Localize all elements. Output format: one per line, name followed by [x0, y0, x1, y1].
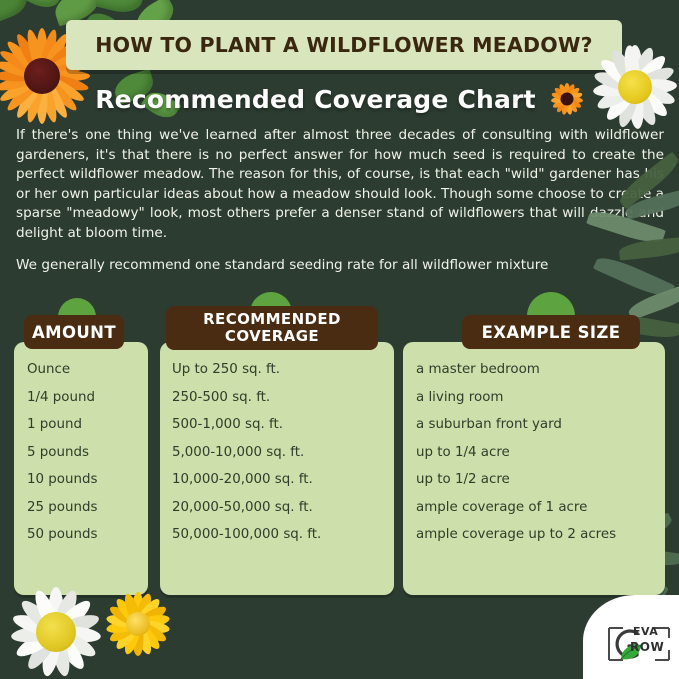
table-row: up to 1/2 acre	[403, 466, 665, 494]
flower-center	[126, 612, 150, 636]
table-row: 10,000-20,000 sq. ft.	[160, 466, 394, 494]
flower-center	[36, 612, 76, 652]
table-row: 5,000-10,000 sq. ft.	[160, 439, 394, 467]
flower-bottom-left-yellow	[100, 586, 176, 662]
table-row: Ounce	[14, 356, 148, 384]
flower-subtitle-orange	[550, 82, 584, 116]
title-banner: HOW TO PLANT A WILDFLOWER MEADOW?	[66, 20, 622, 70]
header-coverage-line1: RECOMMENDED	[203, 311, 341, 328]
column-recommended-coverage: Up to 250 sq. ft. 250-500 sq. ft. 500-1,…	[160, 342, 394, 595]
logo-text-eva: EVA	[633, 625, 658, 638]
header-coverage-line2: COVERAGE	[203, 328, 341, 345]
recommendation-paragraph: We generally recommend one standard seed…	[16, 256, 664, 276]
table-row: 250-500 sq. ft.	[160, 384, 394, 412]
table-row: ample coverage up to 2 acres	[403, 521, 665, 549]
column-amount-rows: Ounce 1/4 pound 1 pound 5 pounds 10 poun…	[14, 342, 148, 549]
table-row: 20,000-50,000 sq. ft.	[160, 494, 394, 522]
header-recommended-coverage: RECOMMENDED COVERAGE	[166, 306, 378, 350]
coverage-table: Ounce 1/4 pound 1 pound 5 pounds 10 poun…	[0, 290, 679, 600]
header-amount: AMOUNT	[24, 315, 124, 349]
flower-center	[560, 93, 573, 106]
table-row: a master bedroom	[403, 356, 665, 384]
column-example-rows: a master bedroom a living room a suburba…	[403, 342, 665, 549]
table-row: a suburban front yard	[403, 411, 665, 439]
page-subtitle: Recommended Coverage Chart	[95, 85, 536, 114]
header-example-size: EXAMPLE SIZE	[462, 315, 640, 349]
table-row: 500-1,000 sq. ft.	[160, 411, 394, 439]
flower-bottom-left-daisy	[4, 580, 108, 679]
logo-text-row: ROW	[630, 640, 664, 654]
intro-paragraph: If there's one thing we've learned after…	[16, 126, 664, 243]
brand-logo: EVA ROW	[583, 595, 679, 679]
table-row: 10 pounds	[14, 466, 148, 494]
table-row: ample coverage of 1 acre	[403, 494, 665, 522]
column-coverage-rows: Up to 250 sq. ft. 250-500 sq. ft. 500-1,…	[160, 342, 394, 549]
table-row: 50,000-100,000 sq. ft.	[160, 521, 394, 549]
subtitle-row: Recommended Coverage Chart	[0, 78, 679, 120]
column-example-size: a master bedroom a living room a suburba…	[403, 342, 665, 595]
table-row: Up to 250 sq. ft.	[160, 356, 394, 384]
logo-mark: EVA ROW	[603, 624, 677, 666]
table-row: 50 pounds	[14, 521, 148, 549]
page-title: HOW TO PLANT A WILDFLOWER MEADOW?	[95, 33, 593, 57]
table-row: 5 pounds	[14, 439, 148, 467]
table-row: up to 1/4 acre	[403, 439, 665, 467]
column-amount: Ounce 1/4 pound 1 pound 5 pounds 10 poun…	[14, 342, 148, 595]
table-row: a living room	[403, 384, 665, 412]
table-row: 1/4 pound	[14, 384, 148, 412]
table-row: 1 pound	[14, 411, 148, 439]
table-row: 25 pounds	[14, 494, 148, 522]
infographic-canvas: HOW TO PLANT A WILDFLOWER MEADOW? Recomm…	[0, 0, 679, 679]
